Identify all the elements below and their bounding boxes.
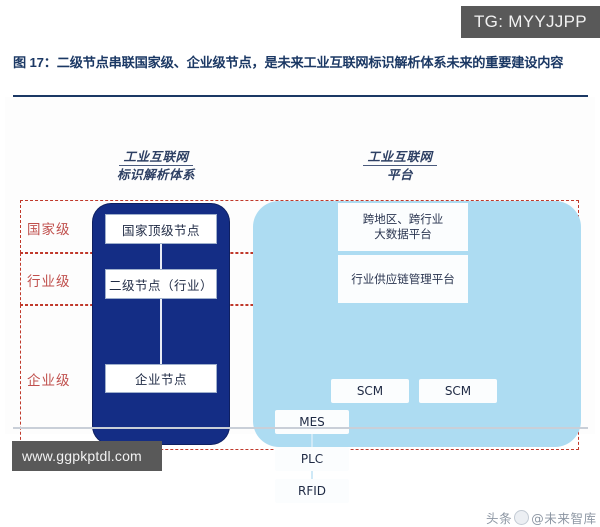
heading-identity-system: 工业互联网 标识解析体系 — [91, 149, 221, 183]
toutiao-logo-icon — [514, 510, 529, 525]
tier-label-enterprise: 企业级 — [27, 369, 71, 389]
toutiao-account-label: @未来智库 — [531, 511, 597, 526]
figure-title: 图 17：二级节点串联国家级、企业级节点，是未来工业互联网标识解析体系未来的重要… — [13, 52, 591, 73]
heading-platform-line2: 平台 — [387, 168, 413, 182]
tier-label-industry: 行业级 — [27, 270, 71, 290]
connector-national-to-secondary — [160, 244, 162, 269]
node-secondary: 二级节点（行业） — [105, 269, 217, 299]
diagram-canvas: 工业互联网 标识解析体系 工业互联网 平台 国家级 行业级 企业级 国家顶级节点… — [5, 97, 595, 434]
app-box-mes: MES — [275, 410, 349, 434]
connector-secondary-to-enterprise — [160, 299, 162, 364]
toutiao-prefix-label: 头条 — [486, 511, 512, 526]
app-box-rfid: RFID — [275, 479, 349, 503]
heading-identity-underline: 工业互联网 — [119, 149, 193, 166]
heading-identity-line2: 标识解析体系 — [117, 168, 195, 182]
app-box-scm-1: SCM — [331, 379, 409, 403]
tier-label-national: 国家级 — [27, 218, 71, 238]
telegram-watermark-badge: TG: MYYJJPP — [461, 6, 600, 38]
app-box-scm-2: SCM — [419, 379, 497, 403]
url-watermark-badge: www.ggpkptdl.com — [12, 441, 162, 471]
platform-bigdata-line2: 大数据平台 — [374, 227, 432, 242]
platform-band-bigdata: 跨地区、跨行业 大数据平台 — [338, 203, 468, 251]
platform-supply-line1: 行业供应链管理平台 — [351, 272, 455, 287]
connector-mes-to-plc — [311, 434, 313, 447]
platform-bigdata-line1: 跨地区、跨行业 — [363, 212, 444, 227]
platform-band-supply-chain: 行业供应链管理平台 — [338, 255, 468, 303]
heading-platform: 工业互联网 平台 — [335, 149, 465, 183]
figure-card: 图 17：二级节点串联国家级、企业级节点，是未来工业互联网标识解析体系未来的重要… — [5, 44, 595, 434]
toutiao-watermark: 头条@未来智库 — [486, 508, 597, 527]
node-national-top: 国家顶级节点 — [105, 214, 217, 244]
app-box-plc: PLC — [275, 447, 349, 471]
card-bottom-divider — [13, 427, 588, 429]
node-enterprise: 企业节点 — [105, 364, 217, 393]
connector-plc-to-rfid — [311, 471, 313, 479]
heading-platform-underline: 工业互联网 — [363, 149, 437, 166]
